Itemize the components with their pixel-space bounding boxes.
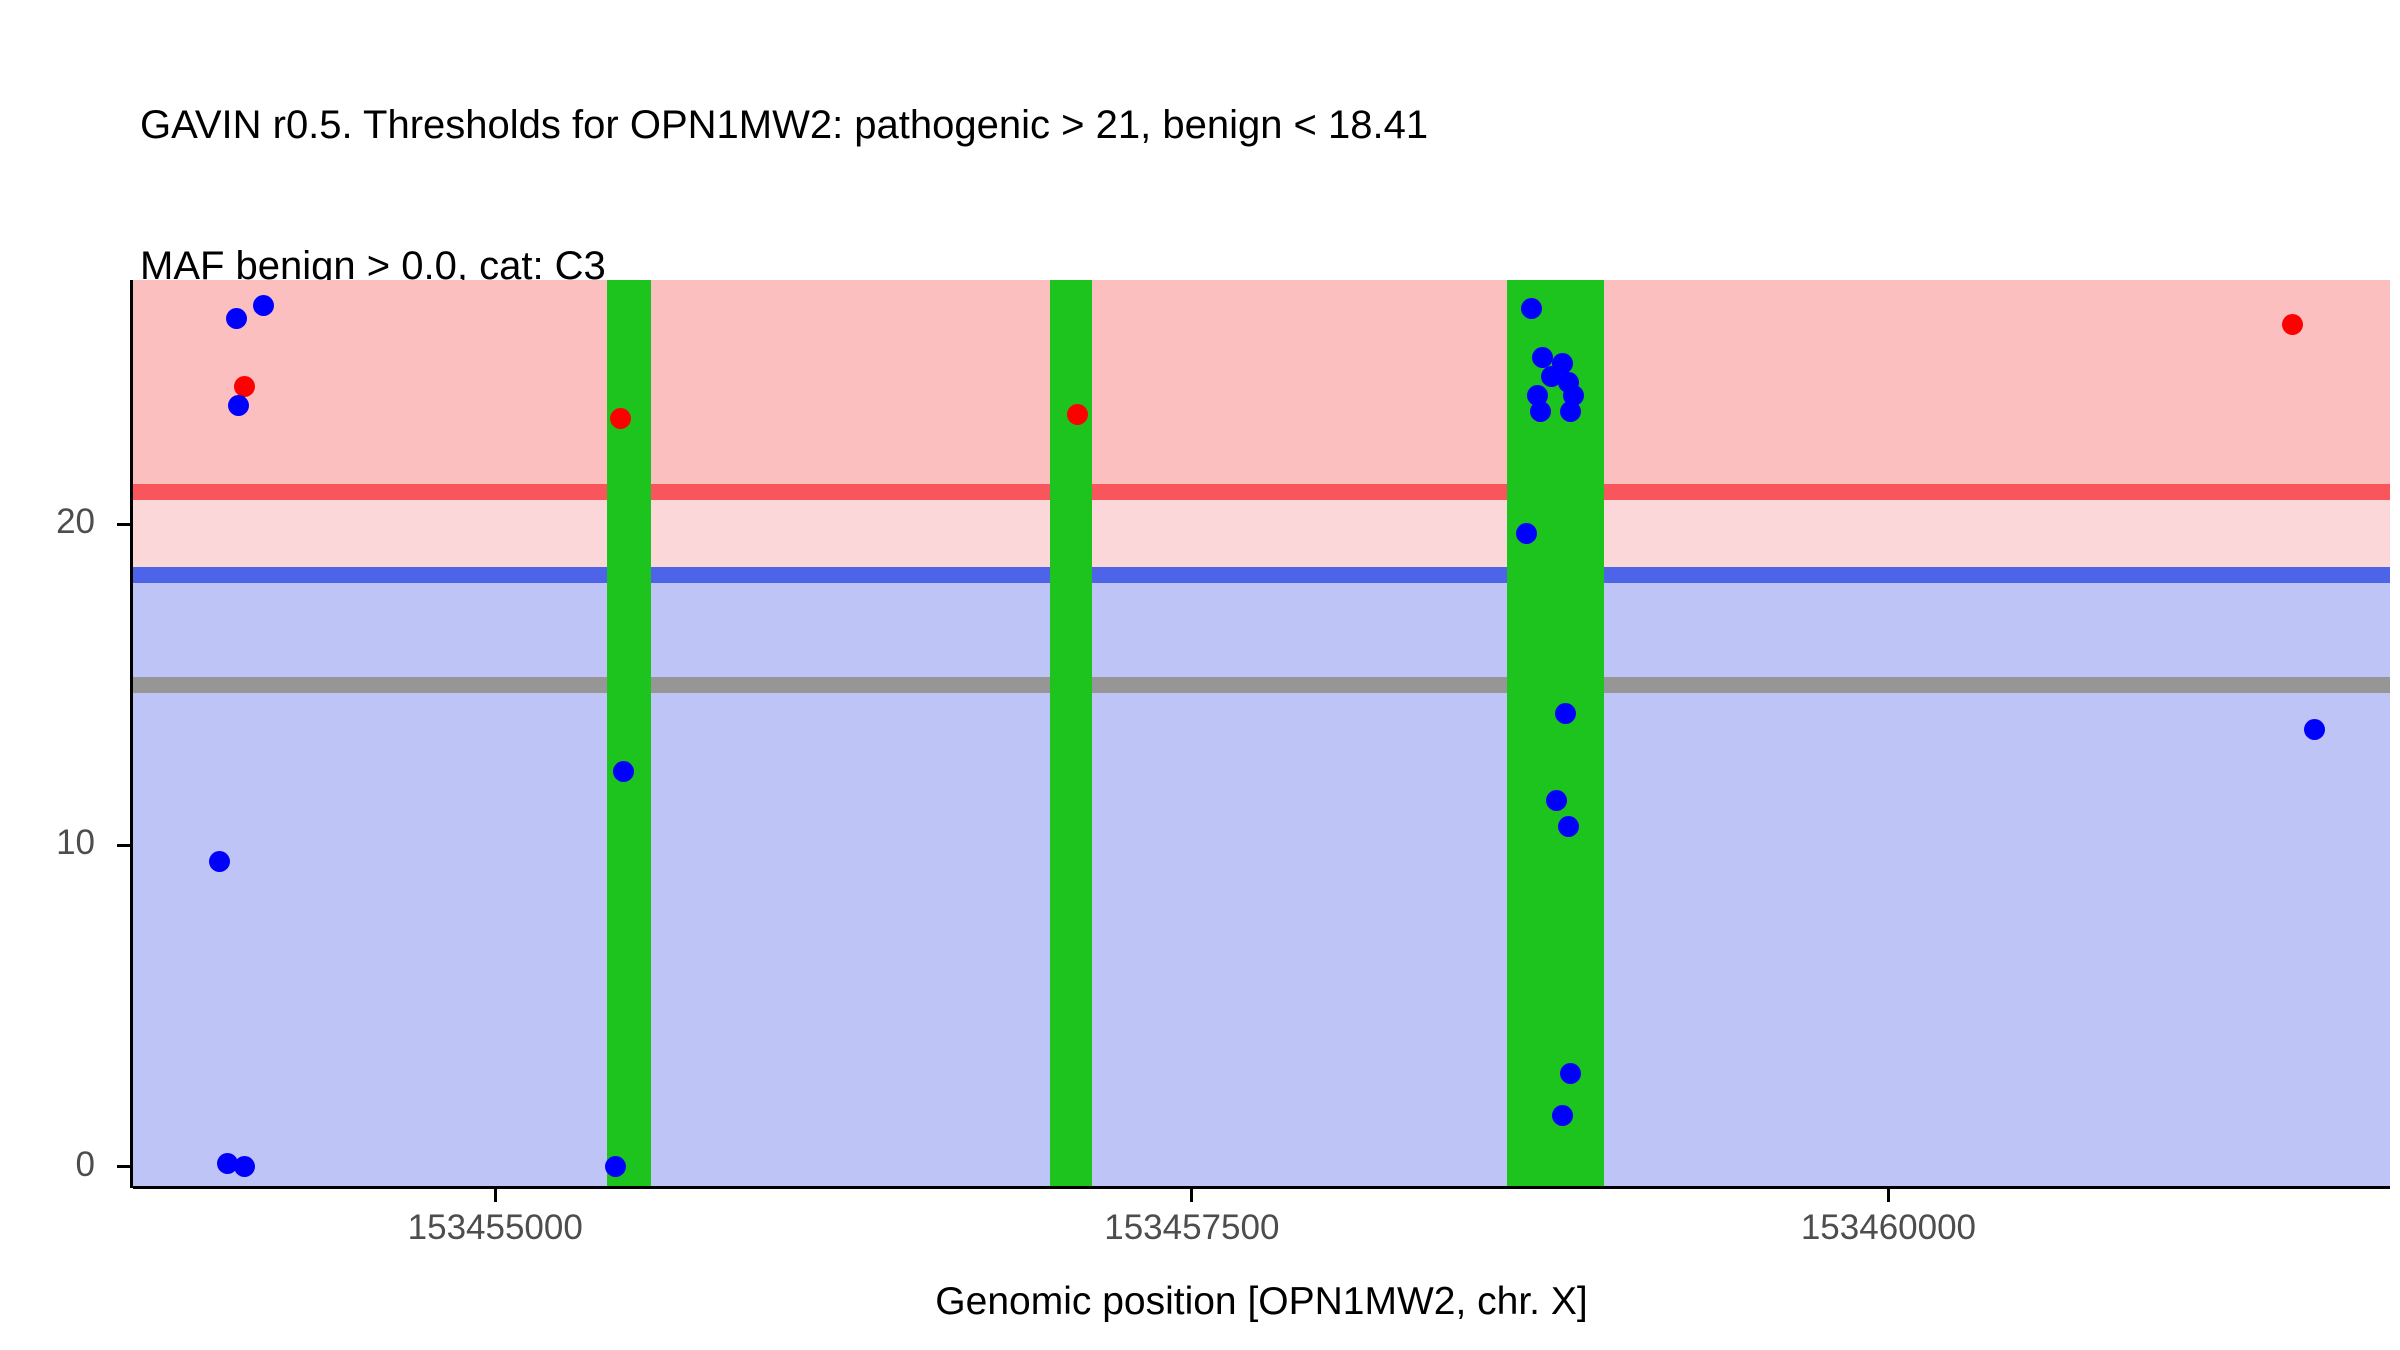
x-tick-label: 153455000	[408, 1208, 583, 1248]
gnomad-point	[1516, 523, 1537, 544]
gnomad-point	[1555, 703, 1576, 724]
chart-root: GAVIN r0.5. Thresholds for OPN1MW2: path…	[0, 0, 2400, 1350]
band-pathogenic	[133, 280, 2390, 492]
y-tick-label: 20	[56, 502, 95, 542]
gnomad-point	[605, 1156, 626, 1177]
plot-panel	[133, 280, 2390, 1186]
clinvar-point	[234, 376, 255, 397]
x-tick-mark	[494, 1189, 497, 1202]
fallback-threshold-line	[133, 677, 2390, 693]
x-tick-label: 153460000	[1801, 1208, 1976, 1248]
gnomad-point	[1530, 401, 1551, 422]
title-line-1: GAVIN r0.5. Thresholds for OPN1MW2: path…	[140, 102, 2340, 149]
x-axis-line	[133, 1186, 2390, 1189]
gnomad-point	[1552, 353, 1573, 374]
y-tick-mark	[117, 1165, 130, 1168]
x-axis-title: Genomic position [OPN1MW2, chr. X]	[133, 1280, 2390, 1324]
gnomad-point	[1532, 347, 1553, 368]
y-tick-label: 10	[56, 823, 95, 863]
benign-threshold-line	[133, 567, 2390, 583]
x-tick-label: 153457500	[1104, 1208, 1279, 1248]
band-benign	[133, 575, 2390, 1186]
gnomad-point	[613, 761, 634, 782]
pathogenic-threshold-line	[133, 484, 2390, 500]
gnomad-point	[226, 308, 247, 329]
y-tick-mark	[117, 844, 130, 847]
gnomad-point	[1558, 816, 1579, 837]
band-ambiguous	[133, 492, 2390, 575]
y-axis-line	[130, 280, 133, 1188]
y-tick-mark	[117, 523, 130, 526]
x-tick-mark	[1887, 1189, 1890, 1202]
x-tick-mark	[1190, 1189, 1193, 1202]
y-tick-label: 0	[76, 1145, 95, 1185]
gnomad-point	[209, 851, 230, 872]
clinvar-point	[610, 408, 631, 429]
gnomad-point	[1552, 1105, 1573, 1126]
